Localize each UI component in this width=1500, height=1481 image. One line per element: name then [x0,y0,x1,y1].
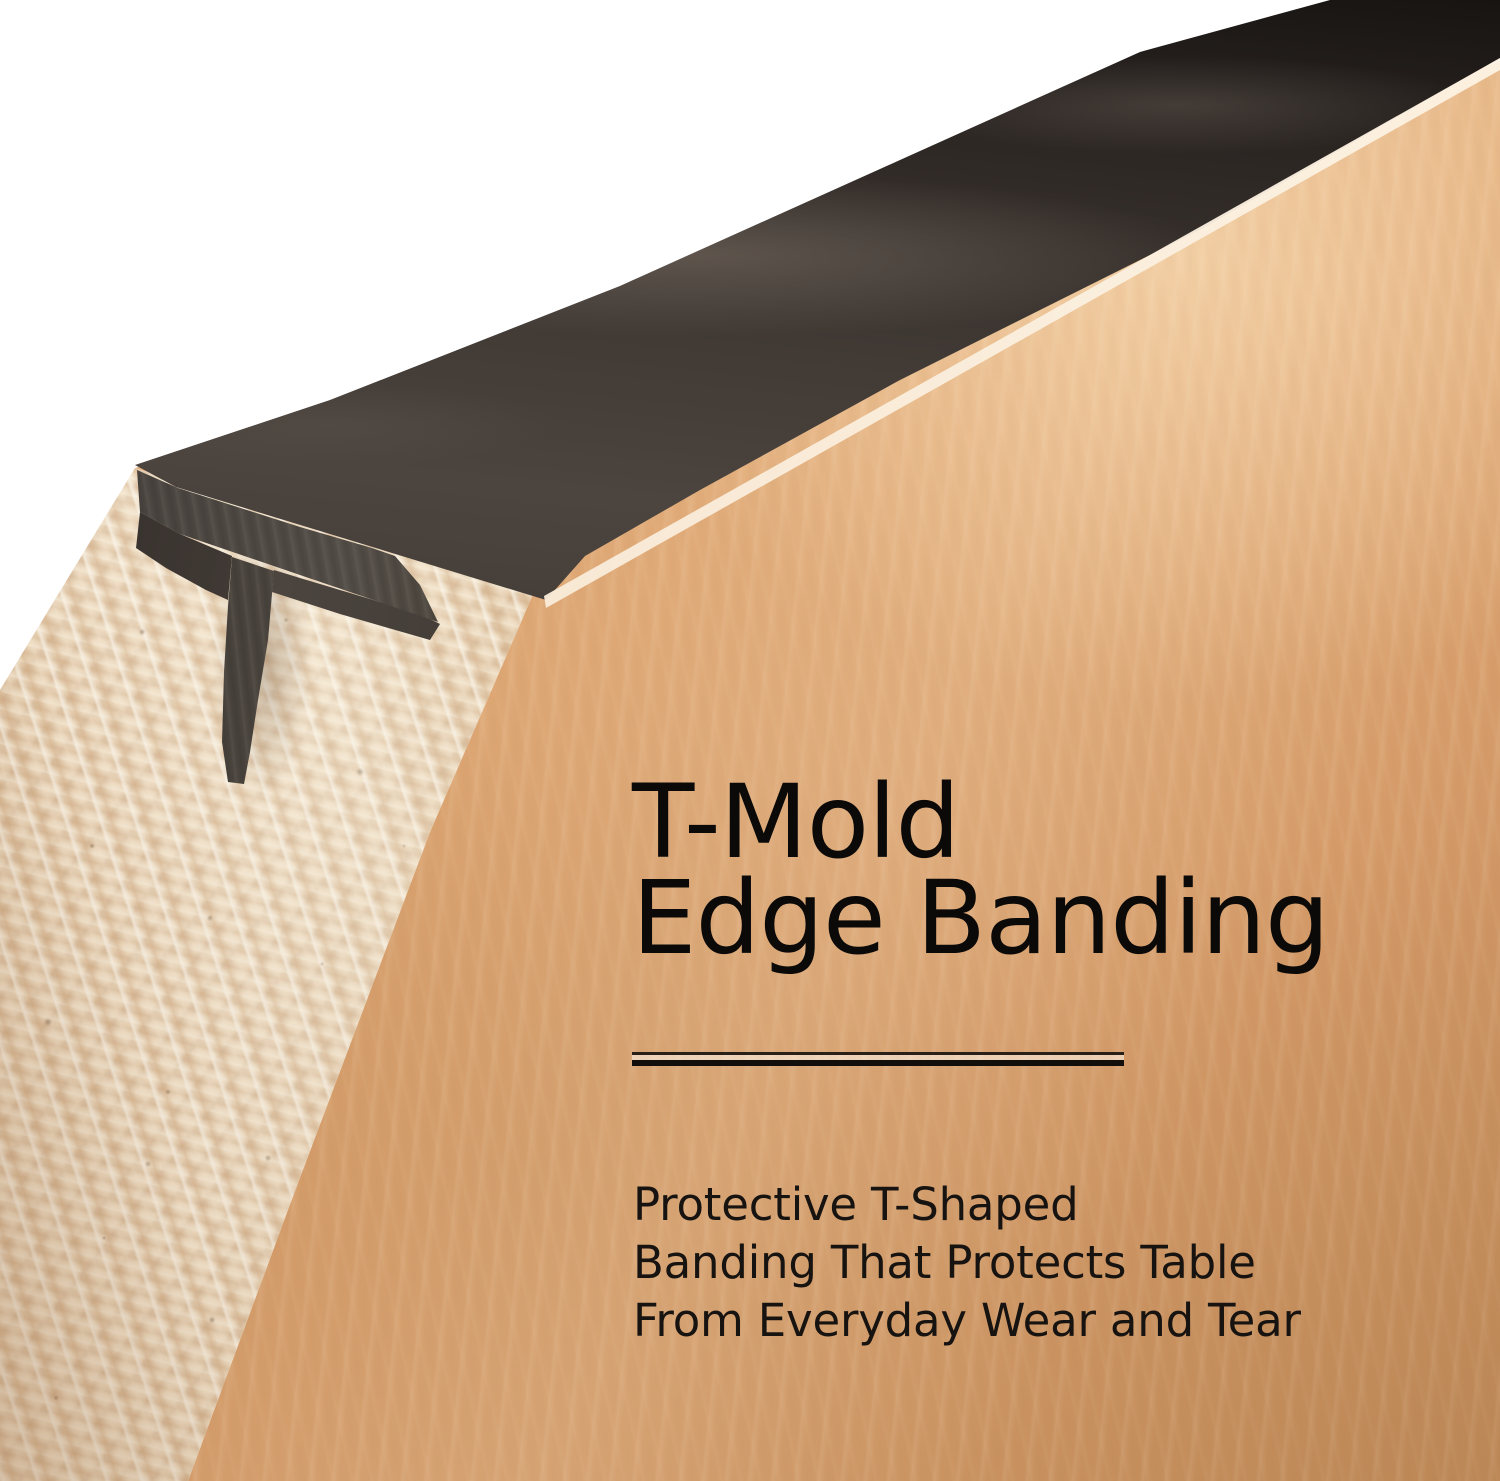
double-rule-divider [632,1052,1124,1066]
product-image-canvas: T-Mold Edge Banding Protective T-Shaped … [0,0,1500,1481]
headline-block: T-Mold Edge Banding [632,775,1452,967]
divider-line-top [632,1052,1124,1055]
divider-line-bottom [632,1060,1124,1066]
page-title: T-Mold Edge Banding [632,775,1452,967]
feature-description: Protective T-Shaped Banding That Protect… [633,1176,1423,1350]
